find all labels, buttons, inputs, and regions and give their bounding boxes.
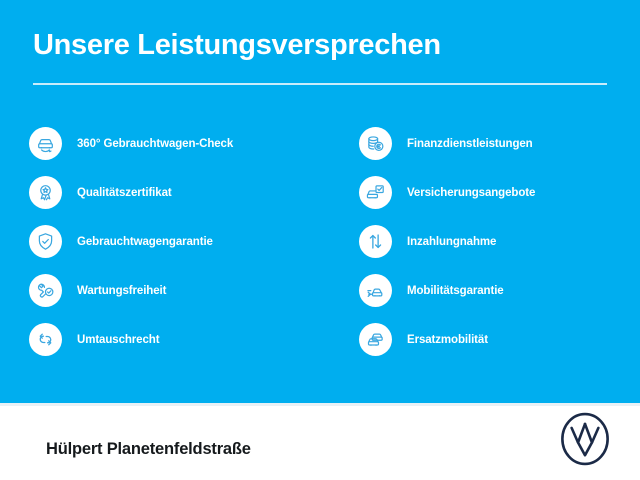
list-item[interactable]: 360° Gebrauchtwagen-Check [29, 119, 329, 168]
feature-column-right: Finanzdienstleistungen Versicherungsange… [359, 119, 640, 364]
list-item-label: Ersatzmobilität [407, 334, 488, 346]
list-item-label: Gebrauchtwagengarantie [77, 236, 213, 248]
car-check-icon [29, 127, 62, 160]
list-item-label: Mobilitätsgarantie [407, 285, 504, 297]
list-item[interactable]: Wartungsfreiheit [29, 266, 329, 315]
list-item-label: Umtauschrecht [77, 334, 159, 346]
wrench-check-icon [29, 274, 62, 307]
car-document-icon [359, 176, 392, 209]
list-item[interactable]: Finanzdienstleistungen [359, 119, 640, 168]
list-item-label: Finanzdienstleistungen [407, 138, 533, 150]
exchange-arrows-icon [29, 323, 62, 356]
dealer-name: Hülpert Planetenfeldstraße [46, 440, 251, 459]
feature-column-left: 360° Gebrauchtwagen-Check Qualitätszerti… [29, 119, 329, 364]
list-item[interactable]: Gebrauchtwagengarantie [29, 217, 329, 266]
tow-truck-icon [359, 274, 392, 307]
award-rosette-icon [29, 176, 62, 209]
list-item-label: Versicherungsangebote [407, 187, 535, 199]
up-down-arrows-icon [359, 225, 392, 258]
promo-page: Unsere Leistungsversprechen 360° Gebrauc [0, 0, 640, 480]
list-item-label: Wartungsfreiheit [77, 285, 166, 297]
two-cars-icon [359, 323, 392, 356]
list-item[interactable]: Umtauschrecht [29, 315, 329, 364]
list-item-label: Inzahlungnahme [407, 236, 496, 248]
page-title: Unsere Leistungsversprechen [33, 29, 441, 62]
list-item[interactable]: Mobilitätsgarantie [359, 266, 640, 315]
coins-euro-icon [359, 127, 392, 160]
list-item[interactable]: Inzahlungnahme [359, 217, 640, 266]
title-divider [33, 83, 607, 85]
volkswagen-logo [556, 410, 614, 468]
list-item[interactable]: Versicherungsangebote [359, 168, 640, 217]
list-item[interactable]: Ersatzmobilität [359, 315, 640, 364]
shield-check-icon [29, 225, 62, 258]
list-item-label: 360° Gebrauchtwagen-Check [77, 138, 233, 150]
list-item[interactable]: Qualitätszertifikat [29, 168, 329, 217]
list-item-label: Qualitätszertifikat [77, 187, 172, 199]
feature-list: 360° Gebrauchtwagen-Check Qualitätszerti… [0, 119, 640, 369]
footer-bar: Hülpert Planetenfeldstraße [0, 406, 640, 480]
